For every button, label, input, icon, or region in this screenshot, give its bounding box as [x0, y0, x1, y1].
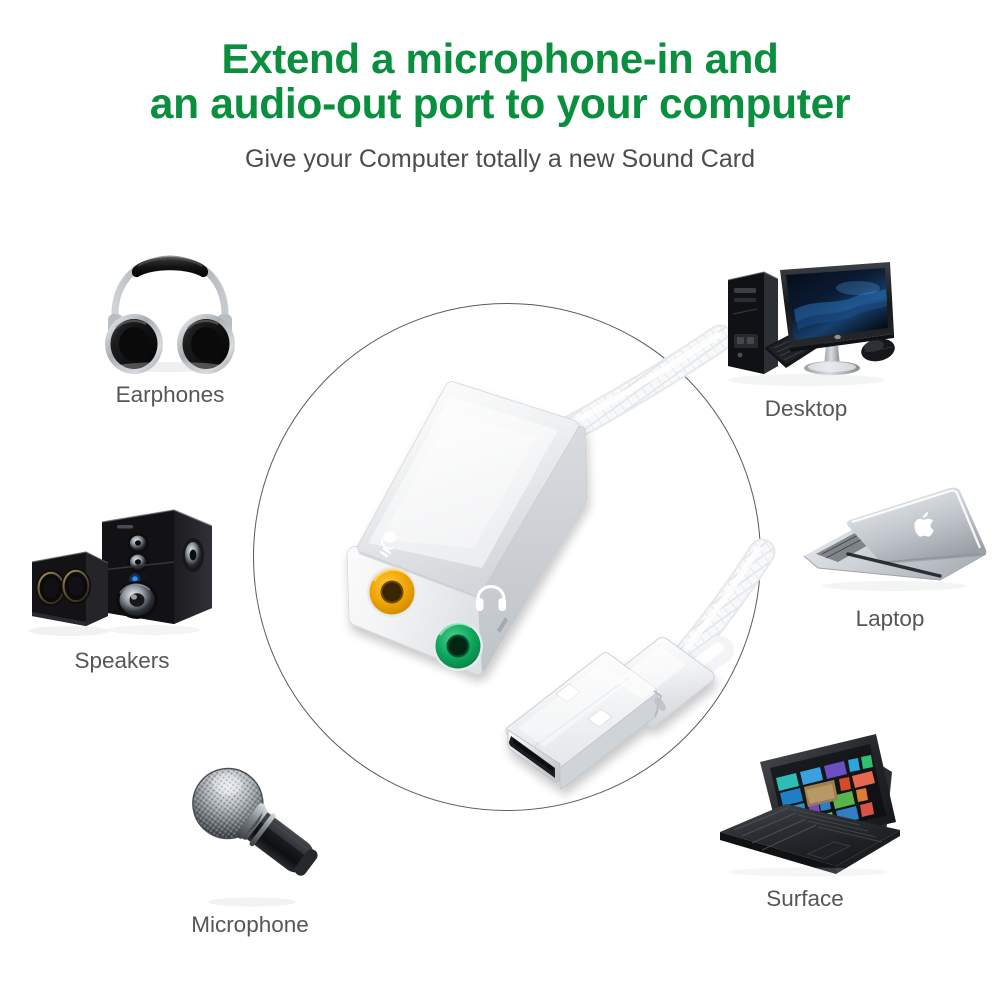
usb-a-connector	[506, 638, 715, 790]
device-earphones: Earphones	[78, 232, 262, 408]
device-label-earphones: Earphones	[78, 382, 262, 408]
usb-sound-card-adapter	[250, 300, 770, 820]
satellite-speaker	[32, 552, 108, 626]
subheadline: Give your Computer totally a new Sound C…	[0, 144, 1000, 174]
headphones-icon	[78, 232, 262, 374]
laptop-icon	[790, 476, 990, 594]
audio-out-jack-port	[433, 621, 483, 671]
device-desktop: Desktop	[706, 248, 906, 422]
microphone-jack-port	[367, 567, 417, 617]
tablet-keyboard-icon	[700, 726, 910, 876]
device-microphone: Microphone	[140, 762, 360, 938]
device-label-laptop: Laptop	[790, 606, 990, 632]
headline-line-2: an audio-out port to your computer	[0, 82, 1000, 128]
device-speakers: Speakers	[24, 500, 220, 674]
device-laptop: Laptop	[790, 476, 990, 632]
device-surface: Surface	[700, 726, 910, 912]
device-label-surface: Surface	[700, 886, 910, 912]
device-label-desktop: Desktop	[706, 396, 906, 422]
pc-tower	[728, 272, 778, 374]
speaker-system-icon	[24, 500, 220, 642]
headline-line-1: Extend a microphone-in and	[0, 36, 1000, 82]
device-label-microphone: Microphone	[140, 912, 360, 938]
infographic-canvas: Extend a microphone-in and an audio-out …	[0, 0, 1000, 1000]
subwoofer	[102, 510, 212, 624]
handheld-microphone-icon	[140, 762, 360, 908]
header: Extend a microphone-in and an audio-out …	[0, 36, 1000, 174]
desktop-computer-icon	[706, 248, 906, 388]
device-label-speakers: Speakers	[24, 648, 220, 674]
